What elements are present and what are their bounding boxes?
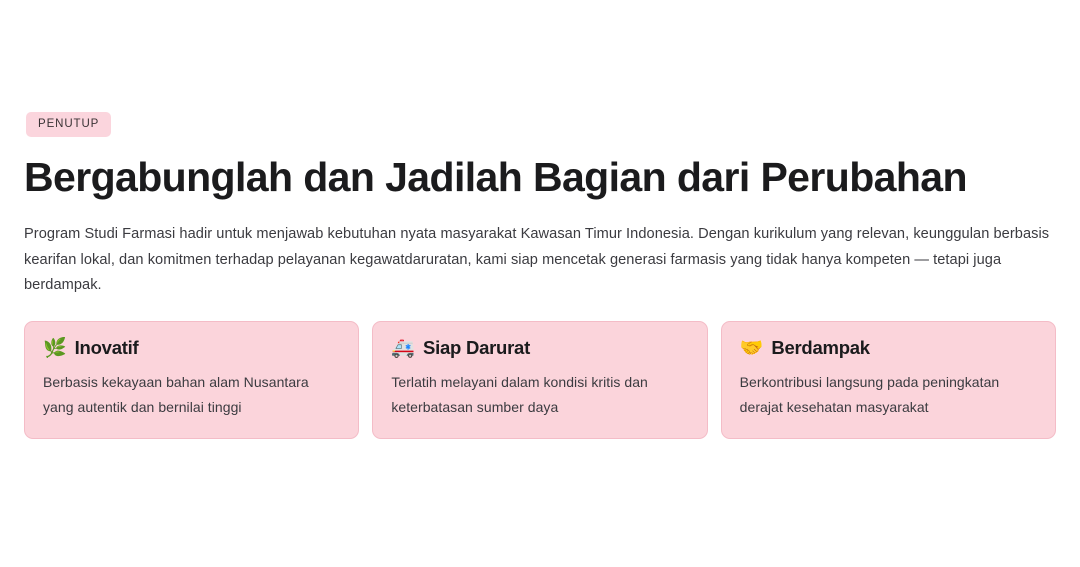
feature-card-header: 🌿 Inovatif [43,337,340,359]
feature-card-body: Berkontribusi langsung pada peningkatan … [740,370,1037,420]
page-title: Bergabunglah dan Jadilah Bagian dari Per… [24,155,1056,201]
feature-card-header: 🤝 Berdampak [740,337,1037,359]
section-eyebrow-badge: PENUTUP [26,112,111,137]
feature-card-header: 🚑 Siap Darurat [391,337,688,359]
feature-card-title: Inovatif [75,337,139,359]
feature-card-body: Terlatih melayani dalam kondisi kritis d… [391,370,688,420]
feature-card-title: Berdampak [771,337,870,359]
feature-card-row: 🌿 Inovatif Berbasis kekayaan bahan alam … [24,321,1056,439]
feature-card-title: Siap Darurat [423,337,530,359]
feature-card[interactable]: 🤝 Berdampak Berkontribusi langsung pada … [721,321,1056,439]
closing-section: PENUTUP Bergabunglah dan Jadilah Bagian … [0,0,1080,567]
lead-paragraph: Program Studi Farmasi hadir untuk menjaw… [24,222,1050,299]
feature-card[interactable]: 🚑 Siap Darurat Terlatih melayani dalam k… [372,321,707,439]
feature-card[interactable]: 🌿 Inovatif Berbasis kekayaan bahan alam … [24,321,359,439]
ambulance-icon: 🚑 [391,339,415,358]
herb-leaf-icon: 🌿 [43,339,67,358]
handshake-icon: 🤝 [740,339,764,358]
feature-card-body: Berbasis kekayaan bahan alam Nusantara y… [43,370,340,420]
